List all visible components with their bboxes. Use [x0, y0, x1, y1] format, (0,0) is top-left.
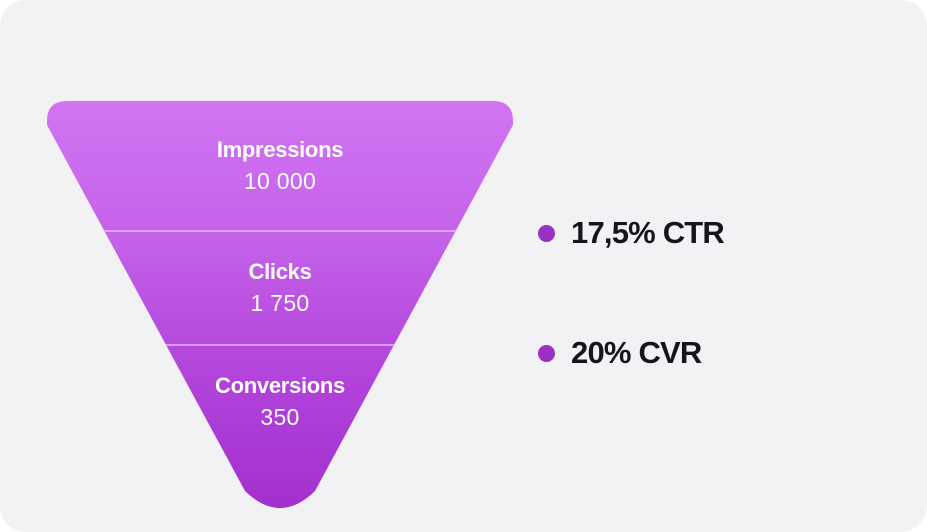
funnel-chart: Impressions 10 000 Clicks 1 750 Conversi… [47, 101, 513, 513]
funnel-shape [47, 101, 513, 513]
legend-item-cvr[interactable]: 20% CVR [538, 325, 878, 381]
legend-item-ctr[interactable]: 17,5% CTR [538, 205, 878, 261]
chart-legend: 17,5% CTR 20% CVR [538, 205, 878, 381]
bullet-dot-icon [538, 345, 555, 362]
funnel-body [47, 101, 513, 513]
funnel-divider-2 [47, 344, 513, 346]
legend-item-label: 17,5% CTR [571, 215, 724, 251]
chart-canvas: Impressions 10 000 Clicks 1 750 Conversi… [0, 0, 927, 532]
legend-item-label: 20% CVR [571, 335, 702, 371]
funnel-divider-1 [47, 230, 513, 232]
bullet-dot-icon [538, 225, 555, 242]
